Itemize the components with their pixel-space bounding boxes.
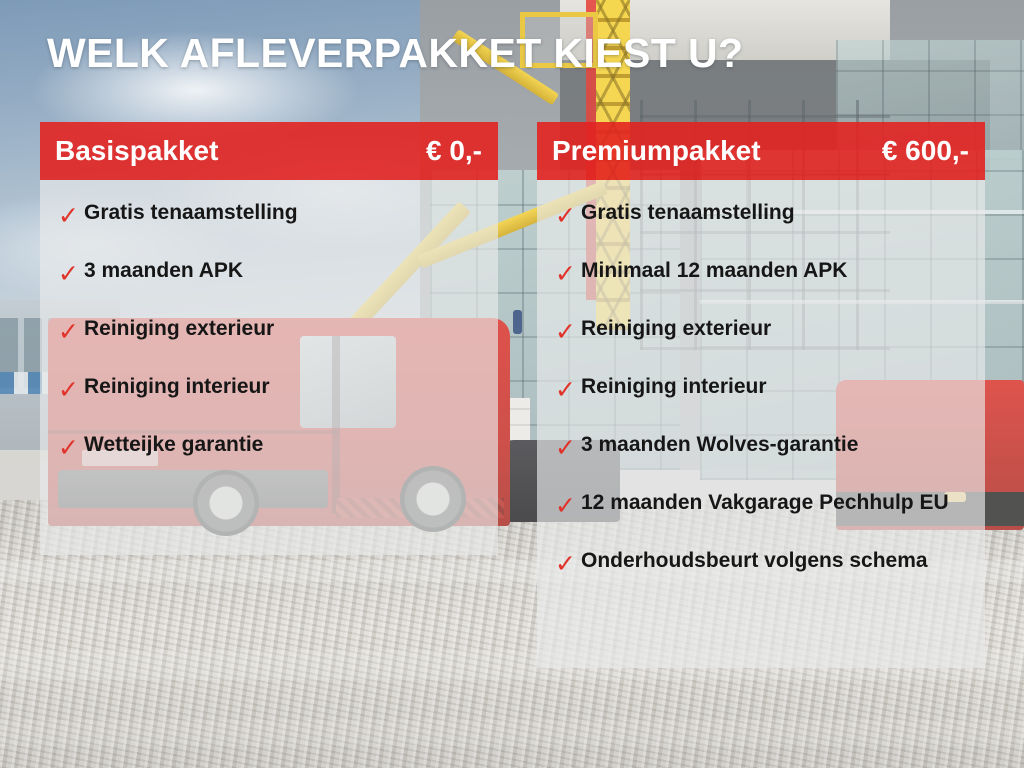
check-icon: ✓	[555, 203, 581, 228]
check-icon: ✓	[58, 261, 84, 286]
feature-label: Minimaal 12 maanden APK	[581, 260, 847, 282]
feature-label: Onderhoudsbeurt volgens schema	[581, 550, 928, 572]
check-icon: ✓	[58, 435, 84, 460]
card-body-premiumpakket: ✓ Gratis tenaamstelling ✓ Minimaal 12 ma…	[537, 180, 985, 668]
package-name: Basispakket	[55, 135, 218, 167]
package-card-premiumpakket[interactable]: Premiumpakket € 600,- ✓ Gratis tenaamste…	[537, 122, 985, 668]
feature-item: ✓ Reiniging exterieur	[537, 318, 985, 376]
check-icon: ✓	[555, 377, 581, 402]
check-icon: ✓	[58, 377, 84, 402]
check-icon: ✓	[58, 203, 84, 228]
feature-item: ✓ 12 maanden Vakgarage Pechhulp EU	[537, 492, 985, 550]
feature-label: Gratis tenaamstelling	[581, 202, 795, 224]
package-price: € 600,-	[882, 135, 969, 167]
feature-item: ✓ Reiniging interieur	[40, 376, 498, 434]
check-icon: ✓	[555, 261, 581, 286]
feature-item: ✓ Gratis tenaamstelling	[40, 202, 498, 260]
feature-item: ✓ 3 maanden Wolves-garantie	[537, 434, 985, 492]
feature-label: 3 maanden Wolves-garantie	[581, 434, 858, 456]
check-icon: ✓	[555, 493, 581, 518]
card-header-premiumpakket: Premiumpakket € 600,-	[537, 122, 985, 180]
package-name: Premiumpakket	[552, 135, 761, 167]
feature-label: Reiniging interieur	[581, 376, 767, 398]
check-icon: ✓	[555, 551, 581, 576]
card-header-basispakket: Basispakket € 0,-	[40, 122, 498, 180]
page-title: WELK AFLEVERPAKKET KIEST U?	[47, 30, 743, 77]
feature-label: Reiniging exterieur	[84, 318, 274, 340]
feature-item: ✓ Minimaal 12 maanden APK	[537, 260, 985, 318]
feature-item: ✓ Reiniging interieur	[537, 376, 985, 434]
card-body-basispakket: ✓ Gratis tenaamstelling ✓ 3 maanden APK …	[40, 180, 498, 555]
feature-item: ✓ Onderhoudsbeurt volgens schema	[537, 550, 985, 608]
feature-label: 12 maanden Vakgarage Pechhulp EU	[581, 492, 949, 514]
feature-label: 3 maanden APK	[84, 260, 243, 282]
feature-item: ✓ Gratis tenaamstelling	[537, 202, 985, 260]
feature-label: Gratis tenaamstelling	[84, 202, 298, 224]
check-icon: ✓	[555, 319, 581, 344]
feature-label: Reiniging exterieur	[581, 318, 771, 340]
feature-label: Wetteijke garantie	[84, 434, 263, 456]
check-icon: ✓	[555, 435, 581, 460]
feature-item: ✓ 3 maanden APK	[40, 260, 498, 318]
feature-label: Reiniging interieur	[84, 376, 270, 398]
feature-item: ✓ Wetteijke garantie	[40, 434, 498, 492]
feature-item: ✓ Reiniging exterieur	[40, 318, 498, 376]
package-price: € 0,-	[426, 135, 482, 167]
check-icon: ✓	[58, 319, 84, 344]
package-card-basispakket[interactable]: Basispakket € 0,- ✓ Gratis tenaamstellin…	[40, 122, 498, 555]
